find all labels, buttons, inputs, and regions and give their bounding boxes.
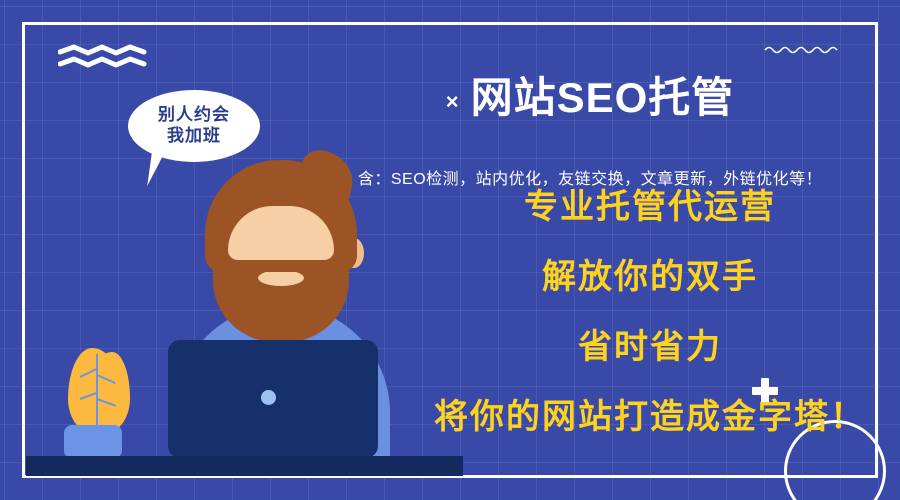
speech-bubble: 别人约会 我加班 xyxy=(128,90,260,162)
page-subtitle: 含：SEO检测，站内优化，友链交换，文章更新，外链优化等！ xyxy=(300,165,880,189)
page-title: 网站SEO托管 xyxy=(471,74,735,122)
speech-bubble-line-1: 别人约会 xyxy=(158,105,230,126)
slogan-line: 解放你的双手 xyxy=(420,260,880,294)
potted-plant-icon xyxy=(64,425,122,457)
slogan-line: 专业托管代运营 xyxy=(420,190,880,224)
title-row: × 网站SEO托管 xyxy=(300,46,880,151)
laptop-logo-dot xyxy=(261,390,276,405)
mouth-shape xyxy=(258,270,304,286)
double-wave-icon xyxy=(58,44,150,70)
header-block: × 网站SEO托管 含：SEO检测，站内优化，友链交换，文章更新，外链优化等！ xyxy=(300,46,880,189)
desk-surface xyxy=(26,456,463,476)
close-icon: × xyxy=(446,91,459,113)
slogan-line: 省时省力 xyxy=(420,330,880,364)
slogan-block: 专业托管代运营 解放你的双手 省时省力 将你的网站打造成金字塔！ xyxy=(420,190,880,434)
slogan-line: 将你的网站打造成金字塔！ xyxy=(420,400,880,434)
seo-hosting-banner: 别人约会 我加班 × 网站SEO托管 含：SEO检测，站内优化，友链交换，文章更… xyxy=(0,0,900,500)
speech-bubble-line-2: 我加班 xyxy=(167,126,221,147)
